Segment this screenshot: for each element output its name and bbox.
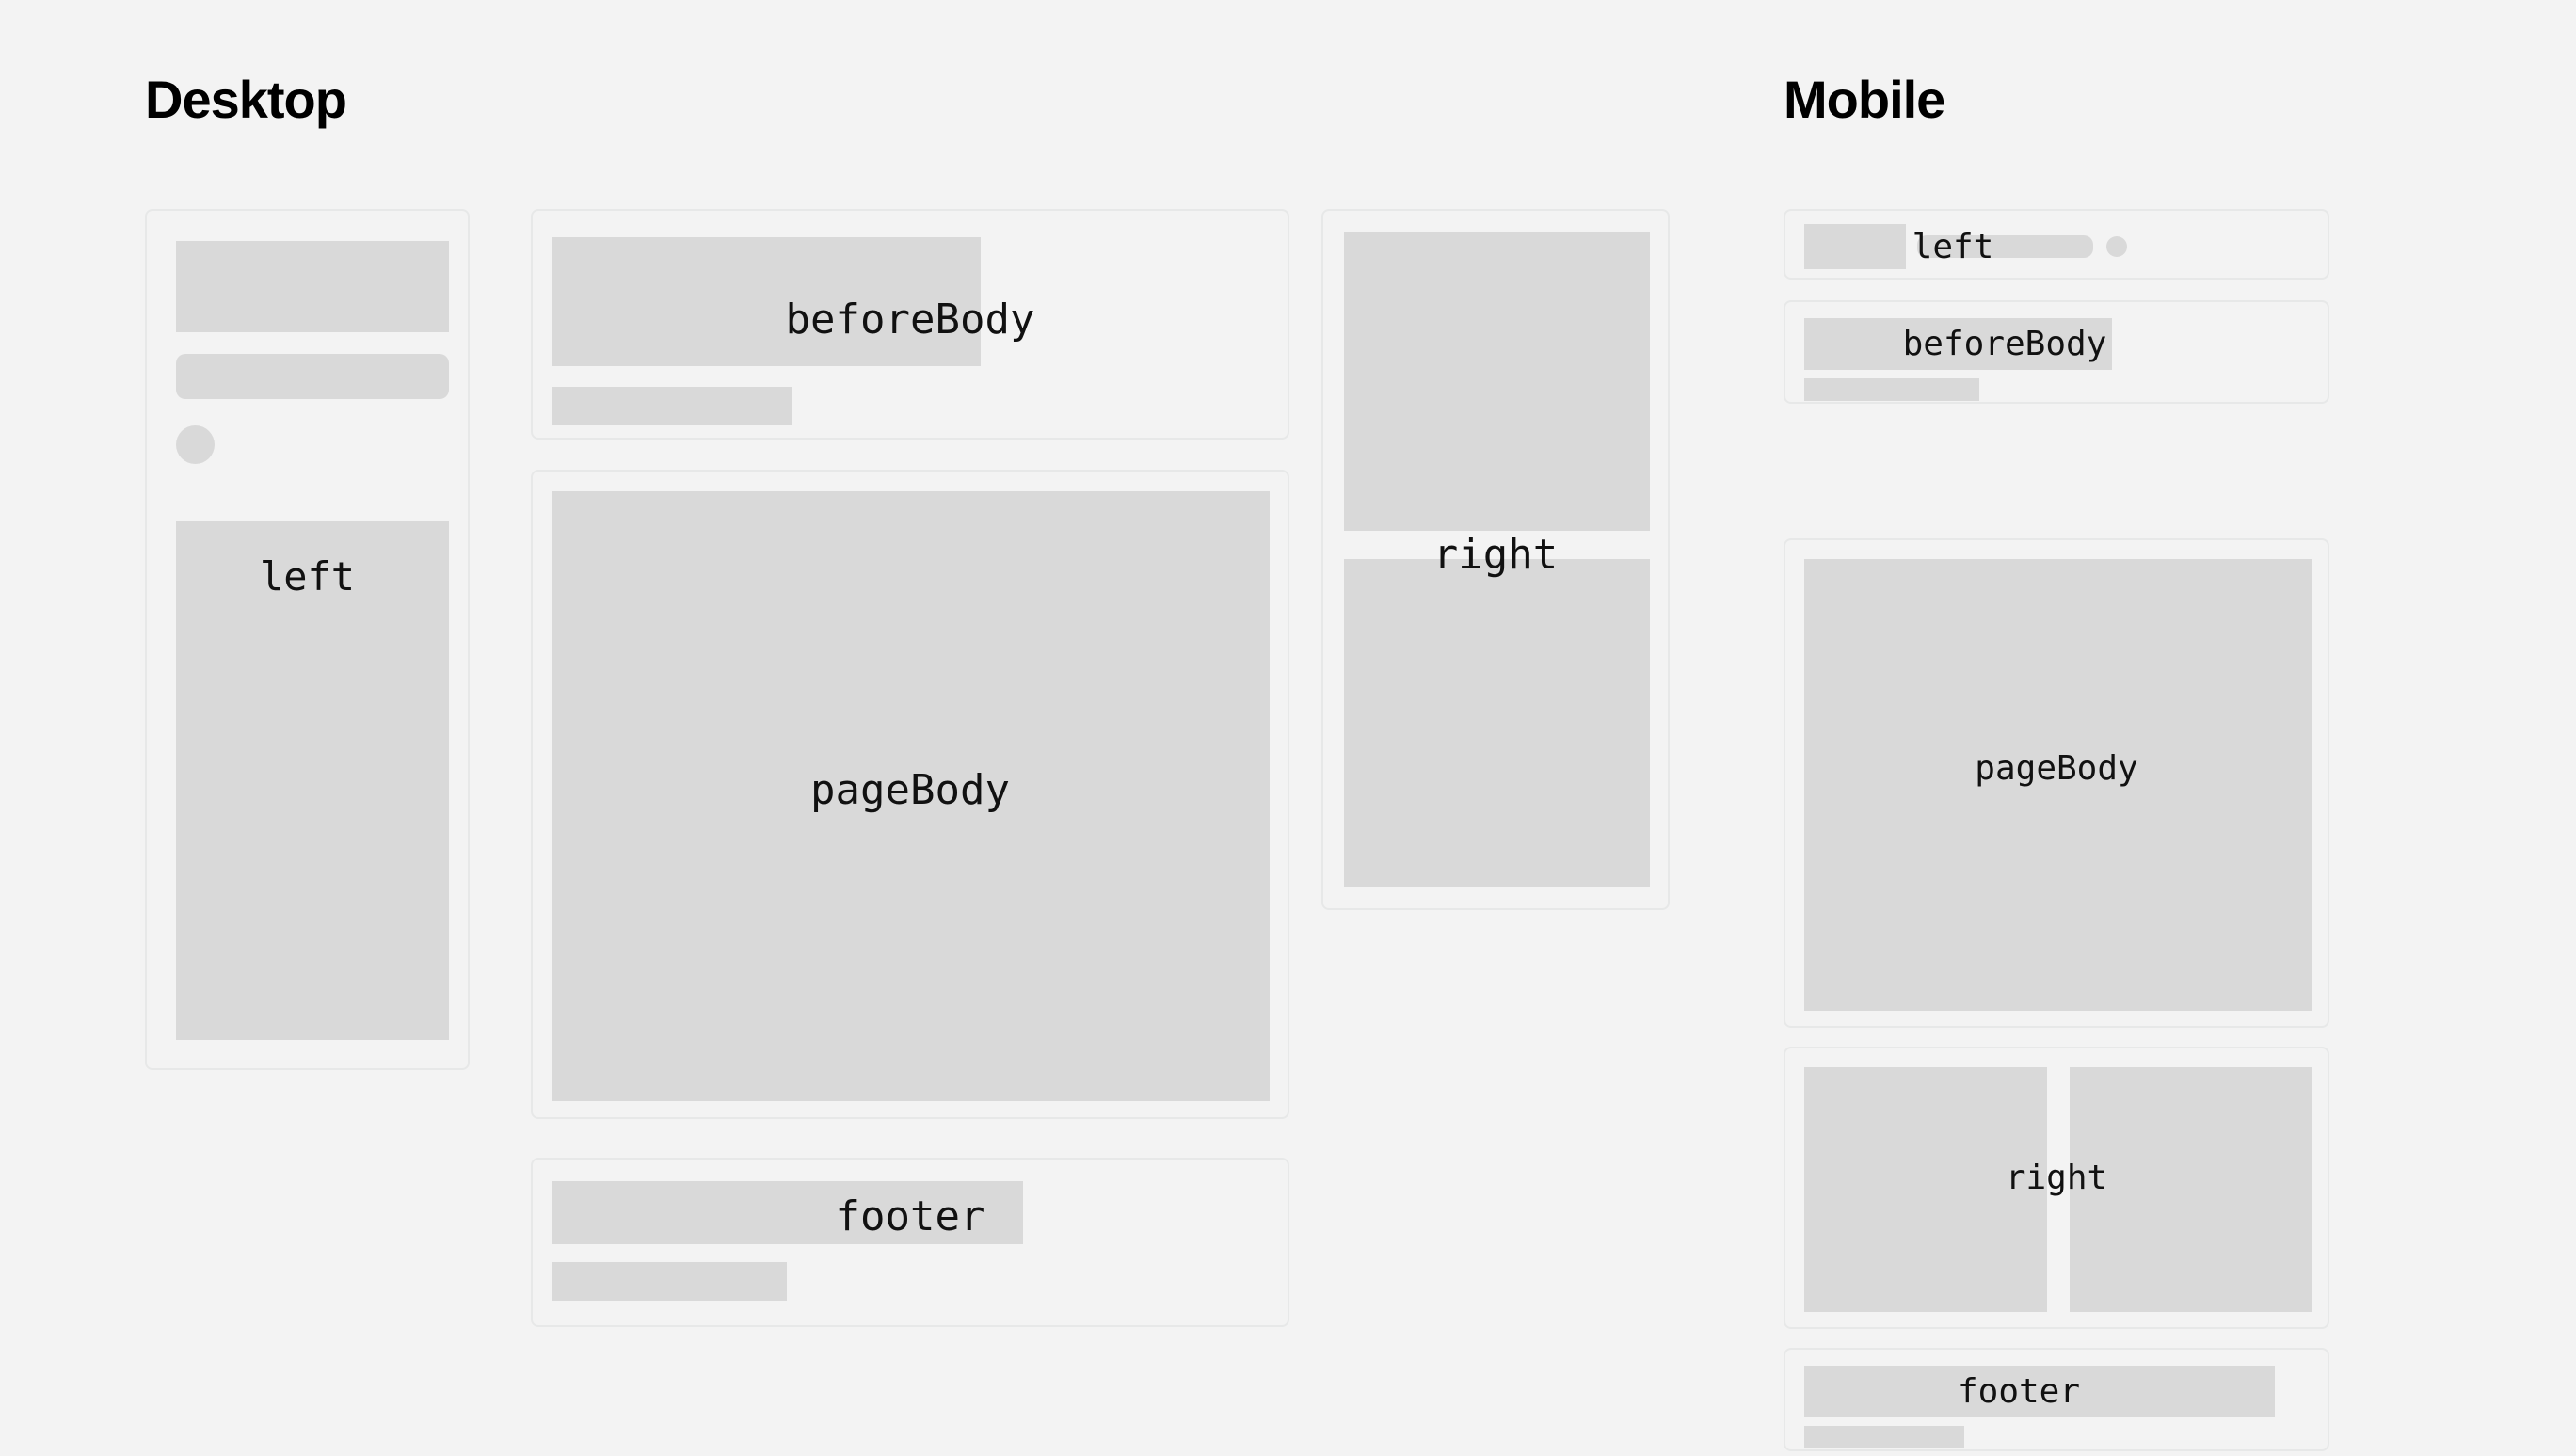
skeleton-block-wide bbox=[1804, 318, 2112, 370]
skeleton-block-upper bbox=[1344, 232, 1650, 531]
skeleton-block-wide bbox=[552, 237, 981, 366]
skeleton-bar-rounded bbox=[176, 354, 449, 399]
skeleton-block-fill bbox=[1804, 559, 2312, 1011]
skeleton-bar-short bbox=[1804, 1426, 1964, 1448]
skeleton-bar-rounded bbox=[1917, 235, 2093, 258]
desktop-section-title: Desktop bbox=[145, 69, 346, 130]
skeleton-bar-wide bbox=[1804, 1366, 2275, 1417]
mobile-section-title: Mobile bbox=[1784, 69, 1944, 130]
mobile-slot-pagebody[interactable]: pageBody bbox=[1784, 538, 2329, 1028]
mobile-slot-footer[interactable]: footer bbox=[1784, 1348, 2329, 1451]
layout-preview-stage: Desktop left beforeBody pageBody footer bbox=[0, 0, 2576, 1456]
desktop-slot-left[interactable]: left bbox=[145, 209, 470, 1070]
desktop-slot-pagebody[interactable]: pageBody bbox=[531, 470, 1289, 1119]
mobile-slot-left[interactable]: left bbox=[1784, 209, 2329, 280]
skeleton-block-small bbox=[1804, 224, 1906, 269]
mobile-slot-right[interactable]: right bbox=[1784, 1047, 2329, 1329]
skeleton-block-left-column bbox=[1804, 1067, 2047, 1312]
skeleton-block-right-column bbox=[2070, 1067, 2312, 1312]
skeleton-block-lower bbox=[1344, 559, 1650, 887]
desktop-slot-footer[interactable]: footer bbox=[531, 1158, 1289, 1327]
mobile-slot-beforebody[interactable]: beforeBody bbox=[1784, 300, 2329, 404]
skeleton-block-fill bbox=[552, 491, 1270, 1101]
skeleton-avatar-circle bbox=[176, 425, 215, 464]
skeleton-bar-short bbox=[552, 387, 792, 425]
skeleton-bar-short bbox=[1804, 378, 1979, 401]
desktop-slot-right[interactable]: right bbox=[1321, 209, 1670, 910]
skeleton-avatar-circle bbox=[2106, 236, 2127, 257]
skeleton-block-large bbox=[176, 241, 449, 332]
skeleton-bar-wide bbox=[552, 1181, 1023, 1244]
desktop-slot-beforebody[interactable]: beforeBody bbox=[531, 209, 1289, 440]
skeleton-block-tall bbox=[176, 521, 449, 1040]
skeleton-bar-short bbox=[552, 1262, 787, 1301]
